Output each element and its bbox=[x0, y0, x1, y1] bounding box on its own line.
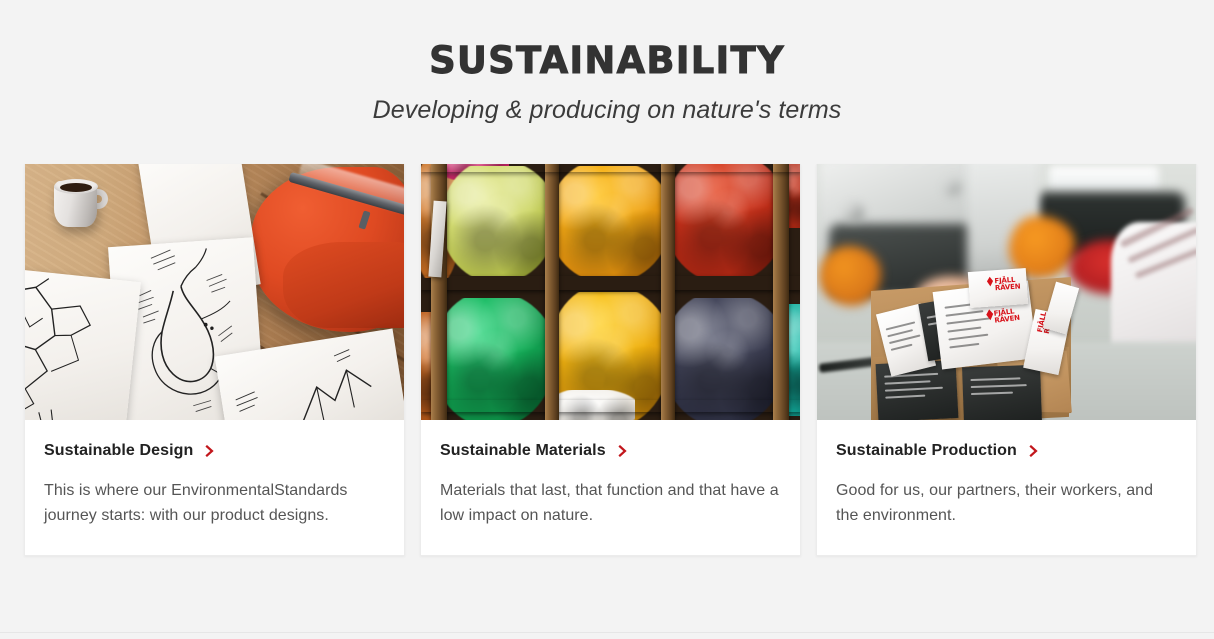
shelf-divider bbox=[661, 164, 675, 420]
card-heading-label: Sustainable Materials bbox=[440, 442, 606, 460]
machine-knob bbox=[845, 204, 863, 222]
red-backpack-lower bbox=[283, 242, 404, 328]
card-description: Materials that last, that function and t… bbox=[440, 479, 781, 529]
wool-cell-yellow bbox=[555, 166, 665, 276]
card-description: Good for us, our partners, their workers… bbox=[836, 479, 1177, 529]
shelf-rail-horizontal bbox=[421, 276, 800, 290]
coffee-surface bbox=[60, 183, 92, 192]
card-sustainable-production[interactable]: FJÄLLRÄVEN FJÄLLRÄVEN FJÄLLRÄVEN bbox=[816, 164, 1197, 556]
card-body: Sustainable Production Good for us, our … bbox=[817, 420, 1196, 555]
shelf-divider bbox=[773, 164, 789, 420]
card-link-sustainable-production[interactable]: Sustainable Production bbox=[836, 442, 1177, 460]
shelf-divider bbox=[545, 164, 559, 420]
hang-tag-white: FJÄLLRÄVEN bbox=[968, 268, 1028, 308]
card-image-sustainable-design bbox=[25, 164, 404, 420]
brand-logo-fjallraven: FJÄLLRÄVEN bbox=[994, 276, 1020, 292]
ceiling-lamp bbox=[1049, 166, 1159, 192]
hang-tag-dark bbox=[962, 365, 1042, 420]
card-image-sustainable-materials bbox=[421, 164, 800, 420]
card-sustainable-materials[interactable]: Sustainable Materials Materials that las… bbox=[420, 164, 801, 556]
card-description: This is where our EnvironmentalStandards… bbox=[44, 479, 385, 529]
card-image-sustainable-production: FJÄLLRÄVEN FJÄLLRÄVEN FJÄLLRÄVEN bbox=[817, 164, 1196, 420]
technical-sketch-ink bbox=[25, 267, 141, 420]
wool-cell-chartreuse bbox=[447, 166, 551, 276]
shelf-rail-top bbox=[421, 164, 800, 172]
card-link-sustainable-design[interactable]: Sustainable Design bbox=[44, 442, 385, 460]
card-body: Sustainable Design This is where our Env… bbox=[25, 420, 404, 555]
page-header: SUSTAINABILITY Developing & producing on… bbox=[0, 0, 1214, 125]
chevron-right-icon bbox=[204, 445, 216, 457]
card-body: Sustainable Materials Materials that las… bbox=[421, 420, 800, 555]
page-subtitle: Developing & producing on nature's terms bbox=[0, 96, 1214, 125]
page-title: SUSTAINABILITY bbox=[0, 40, 1214, 83]
page-bottom-divider bbox=[0, 632, 1214, 633]
brand-logo-fjallraven: FJÄLLRÄVEN bbox=[993, 308, 1020, 325]
machine-knob bbox=[945, 180, 960, 195]
arctic-fox-logo-icon bbox=[986, 276, 994, 287]
sustainability-page: SUSTAINABILITY Developing & producing on… bbox=[0, 0, 1214, 639]
card-sustainable-design[interactable]: Sustainable Design This is where our Env… bbox=[24, 164, 405, 556]
chevron-right-icon bbox=[1028, 445, 1040, 457]
chevron-right-icon bbox=[617, 445, 629, 457]
card-heading-label: Sustainable Design bbox=[44, 442, 193, 460]
card-grid: Sustainable Design This is where our Env… bbox=[24, 164, 1197, 556]
sketch-paper bbox=[25, 267, 141, 420]
card-link-sustainable-materials[interactable]: Sustainable Materials bbox=[440, 442, 781, 460]
shelf-rail-horizontal bbox=[421, 400, 800, 412]
wool-cell-red bbox=[671, 164, 781, 276]
arctic-fox-logo-icon bbox=[985, 309, 994, 322]
card-heading-label: Sustainable Production bbox=[836, 442, 1017, 460]
